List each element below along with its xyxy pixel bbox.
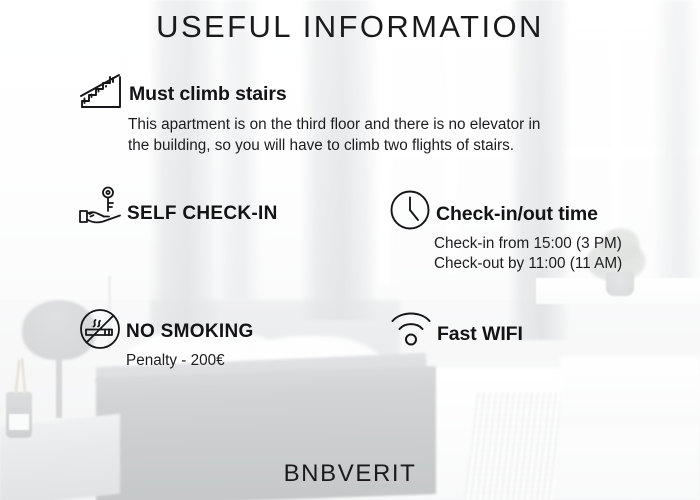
section-stairs-line-2: the building, so you will have to climb …	[128, 135, 514, 156]
section-no-smoking-line-1: Penalty - 200€	[126, 350, 225, 371]
clock-icon	[389, 189, 431, 231]
section-self-check-in-heading: SELF CHECK-IN	[127, 203, 278, 225]
section-check-in-out-time-heading: Check-in/out time	[436, 203, 598, 226]
section-check-in-line-1: Check-in from 15:00 (3 PM)	[434, 233, 622, 254]
section-stairs-line-1: This apartment is on the third floor and…	[128, 114, 540, 135]
section-fast-wifi-heading: Fast WIFI	[437, 323, 523, 346]
section-stairs-heading: Must climb stairs	[129, 83, 287, 106]
section-no-smoking-heading: NO SMOKING	[126, 321, 254, 343]
wifi-icon	[389, 308, 433, 348]
poster-content: USEFUL INFORMATION Must climb stairs Thi…	[0, 0, 700, 500]
useful-information-poster: USEFUL INFORMATION Must climb stairs Thi…	[0, 0, 700, 500]
no-smoking-icon	[78, 307, 122, 351]
section-check-in-line-2: Check-out by 11:00 (11 AM)	[434, 253, 622, 274]
stairs-icon	[78, 72, 124, 114]
page-title: USEFUL INFORMATION	[0, 9, 700, 45]
hand-key-icon	[78, 185, 126, 229]
brand-logo: BNBVERIT	[0, 460, 700, 488]
